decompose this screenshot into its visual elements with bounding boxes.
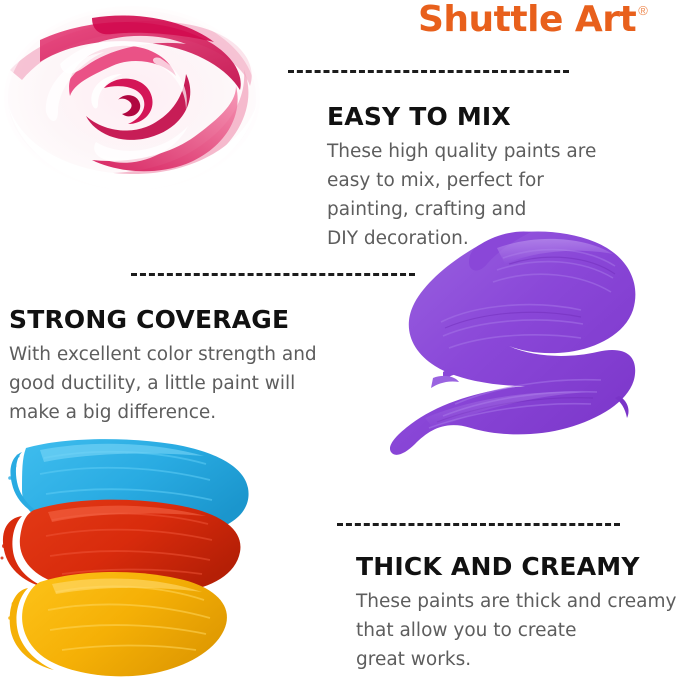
yellow-stroke bbox=[8, 572, 227, 676]
product-feature-infographic: Shuttle Art ® bbox=[0, 0, 679, 697]
brand-name: Shuttle Art bbox=[418, 2, 636, 38]
feature-body-easy-to-mix: These high quality paints are easy to mi… bbox=[327, 137, 596, 253]
feature-body-line: good ductility, a little paint will bbox=[9, 369, 317, 398]
feature-body-line: These paints are thick and creamy bbox=[356, 587, 676, 616]
feature-body-thick-and-creamy: These paints are thick and creamy that a… bbox=[356, 587, 676, 674]
purple-brushstroke-image bbox=[385, 218, 675, 508]
tricolor-brushstrokes-image bbox=[0, 432, 290, 697]
feature-body-line: that allow you to create bbox=[356, 616, 676, 645]
feature-strong-coverage: STRONG COVERAGE With excellent color str… bbox=[9, 305, 317, 427]
feature-body-strong-coverage: With excellent color strength and good d… bbox=[9, 340, 317, 427]
feature-title-easy-to-mix: EASY TO MIX bbox=[327, 102, 596, 131]
registered-trademark-icon: ® bbox=[638, 4, 648, 17]
feature-title-thick-and-creamy: THICK AND CREAMY bbox=[356, 552, 676, 581]
feature-body-line: With excellent color strength and bbox=[9, 340, 317, 369]
feature-body-line: These high quality paints are bbox=[327, 137, 596, 166]
feature-easy-to-mix: EASY TO MIX These high quality paints ar… bbox=[327, 102, 596, 253]
feature-title-strong-coverage: STRONG COVERAGE bbox=[9, 305, 317, 334]
pink-paint-swirl-image bbox=[0, 0, 265, 196]
feature-body-line: painting, crafting and bbox=[327, 195, 596, 224]
divider-strong-coverage bbox=[131, 273, 415, 276]
feature-body-line: make a big difference. bbox=[9, 398, 317, 427]
brand-logo: Shuttle Art ® bbox=[418, 2, 648, 38]
feature-body-line: easy to mix, perfect for bbox=[327, 166, 596, 195]
divider-easy-to-mix bbox=[288, 70, 569, 73]
feature-body-line: great works. bbox=[356, 645, 676, 674]
divider-thick-and-creamy bbox=[337, 523, 620, 526]
feature-thick-and-creamy: THICK AND CREAMY These paints are thick … bbox=[356, 552, 676, 674]
feature-body-line: DIY decoration. bbox=[327, 224, 596, 253]
